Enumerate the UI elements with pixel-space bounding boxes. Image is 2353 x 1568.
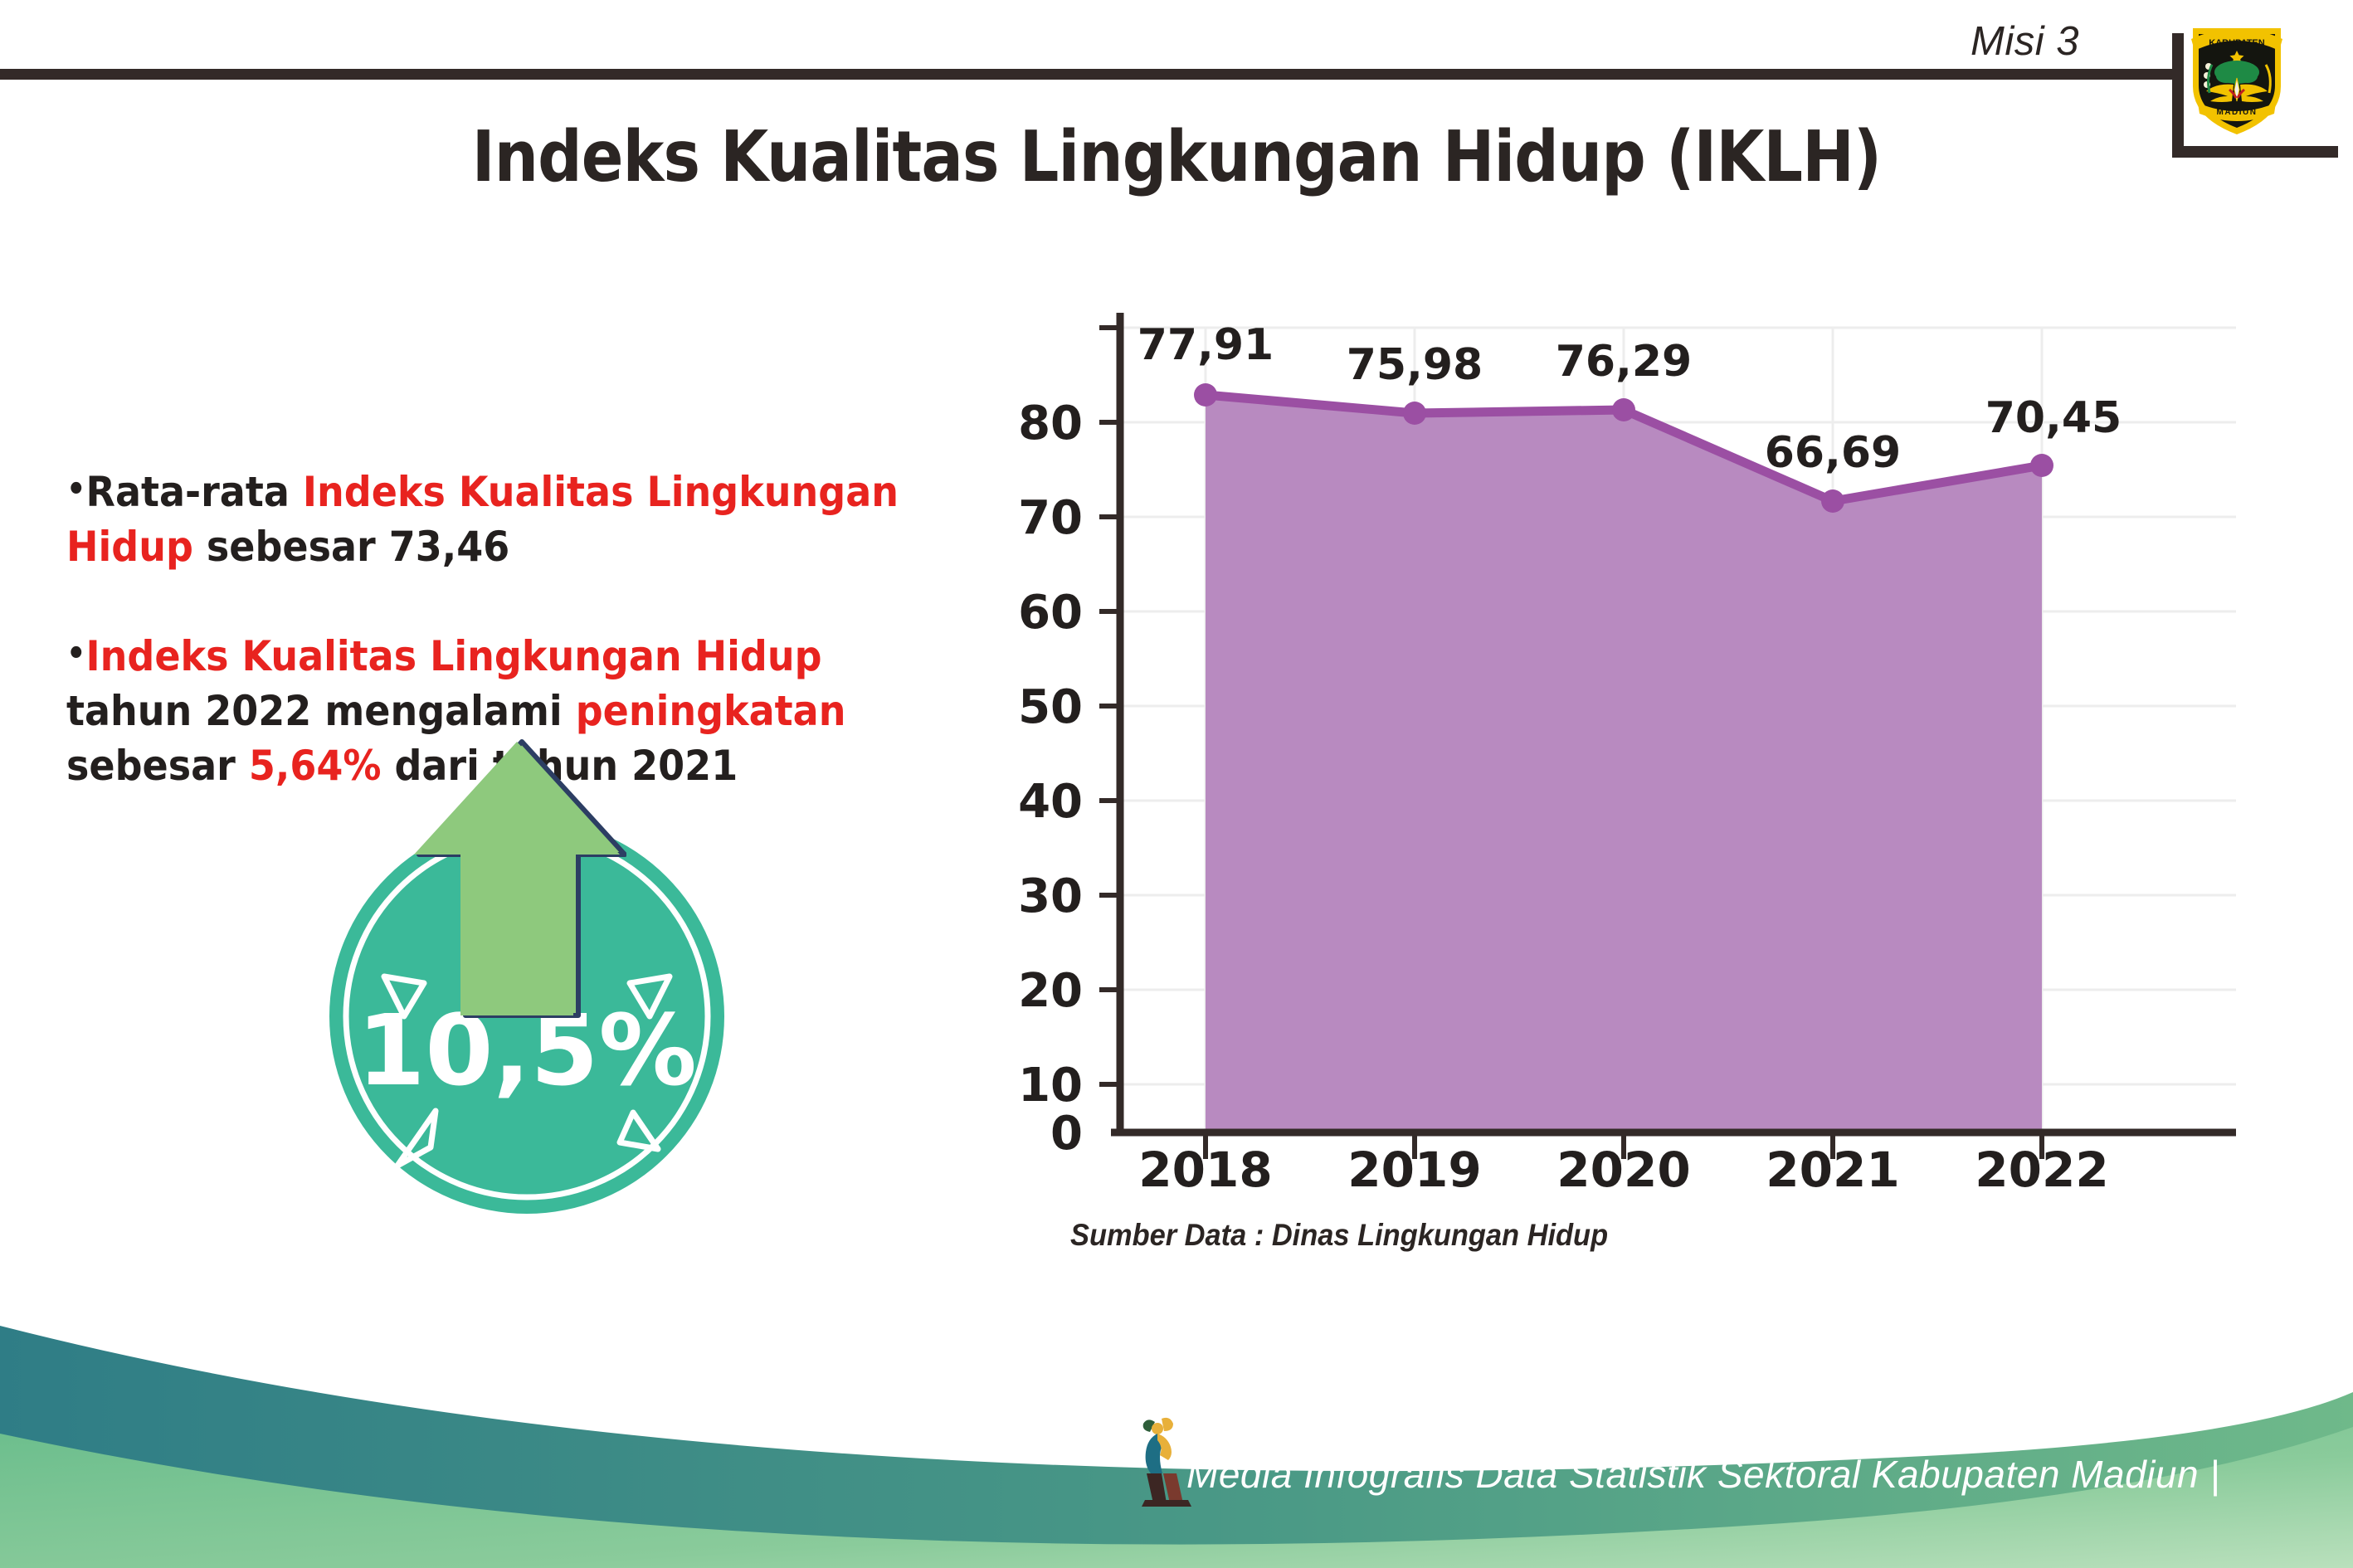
up-arrow-icon	[411, 738, 626, 1025]
y-tick-label: 10	[1018, 1059, 1083, 1113]
bullet-text-part: Rata-rata	[86, 468, 303, 516]
bullet-dot-icon: •	[66, 470, 86, 509]
y-tick-label: 0	[1050, 1107, 1083, 1161]
bullet-highlight: Indeks Kualitas Lingkungan Hidup	[86, 632, 822, 680]
chart-y-tick-labels: 0 10 20 30 40 50 60 70 80	[1018, 397, 1083, 1161]
y-tick-label: 20	[1018, 964, 1083, 1018]
x-tick-label: 2018	[1138, 1142, 1272, 1191]
header-divider-rule	[0, 69, 2182, 80]
footer-caption: Media Infografis Data Statistik Sektoral…	[1186, 1452, 2220, 1497]
x-tick-label: 2020	[1556, 1142, 1690, 1191]
y-tick-label: 70	[1018, 491, 1083, 545]
y-tick-label: 50	[1018, 680, 1083, 734]
chart-area-fill	[1206, 395, 2042, 1132]
data-label: 75,98	[1347, 340, 1483, 390]
bullet-text-part: tahun 2022 mengalami	[66, 687, 576, 735]
bullet-highlight: 5,64%	[249, 742, 382, 790]
page-title: Indeks Kualitas Lingkungan Hidup (IKLH)	[141, 116, 2212, 198]
chart-source-note: Sumber Data : Dinas Lingkungan Hidup	[1070, 1218, 1608, 1253]
y-tick-label: 60	[1018, 586, 1083, 640]
data-label: 76,29	[1556, 337, 1692, 387]
bullet-text-part: sebesar 73,46	[193, 523, 509, 571]
y-tick-label: 40	[1018, 775, 1083, 829]
logo-bottom-ribbon-text: MADIUN	[2217, 108, 2258, 117]
x-tick-label: 2021	[1766, 1142, 1899, 1191]
data-label: 77,91	[1138, 320, 1274, 370]
x-tick-label: 2019	[1347, 1142, 1481, 1191]
bullet-dot-icon: •	[66, 635, 86, 673]
bullet-highlight: peningkatan	[576, 687, 846, 735]
y-tick-label: 30	[1018, 869, 1083, 923]
logo-top-ribbon-text: KABUPATEN	[2209, 38, 2264, 48]
data-label: 66,69	[1765, 428, 1901, 478]
data-label: 70,45	[1985, 393, 2122, 443]
chart-x-tick-labels: 2018 2019 2020 2021 2022	[1138, 1142, 2108, 1191]
y-tick-label: 80	[1018, 397, 1083, 450]
x-tick-label: 2022	[1975, 1142, 2108, 1191]
bullet-text-part: sebesar	[66, 742, 249, 790]
up-arrow-fill	[414, 742, 620, 1015]
list-item: •Rata-rata Indeks Kualitas Lingkungan Hi…	[66, 465, 913, 574]
iklh-area-chart: 77,91 75,98 76,29 66,69 70,45 0 10 20 30…	[975, 295, 2236, 1191]
misi-label: Misi 3	[1971, 18, 2079, 65]
